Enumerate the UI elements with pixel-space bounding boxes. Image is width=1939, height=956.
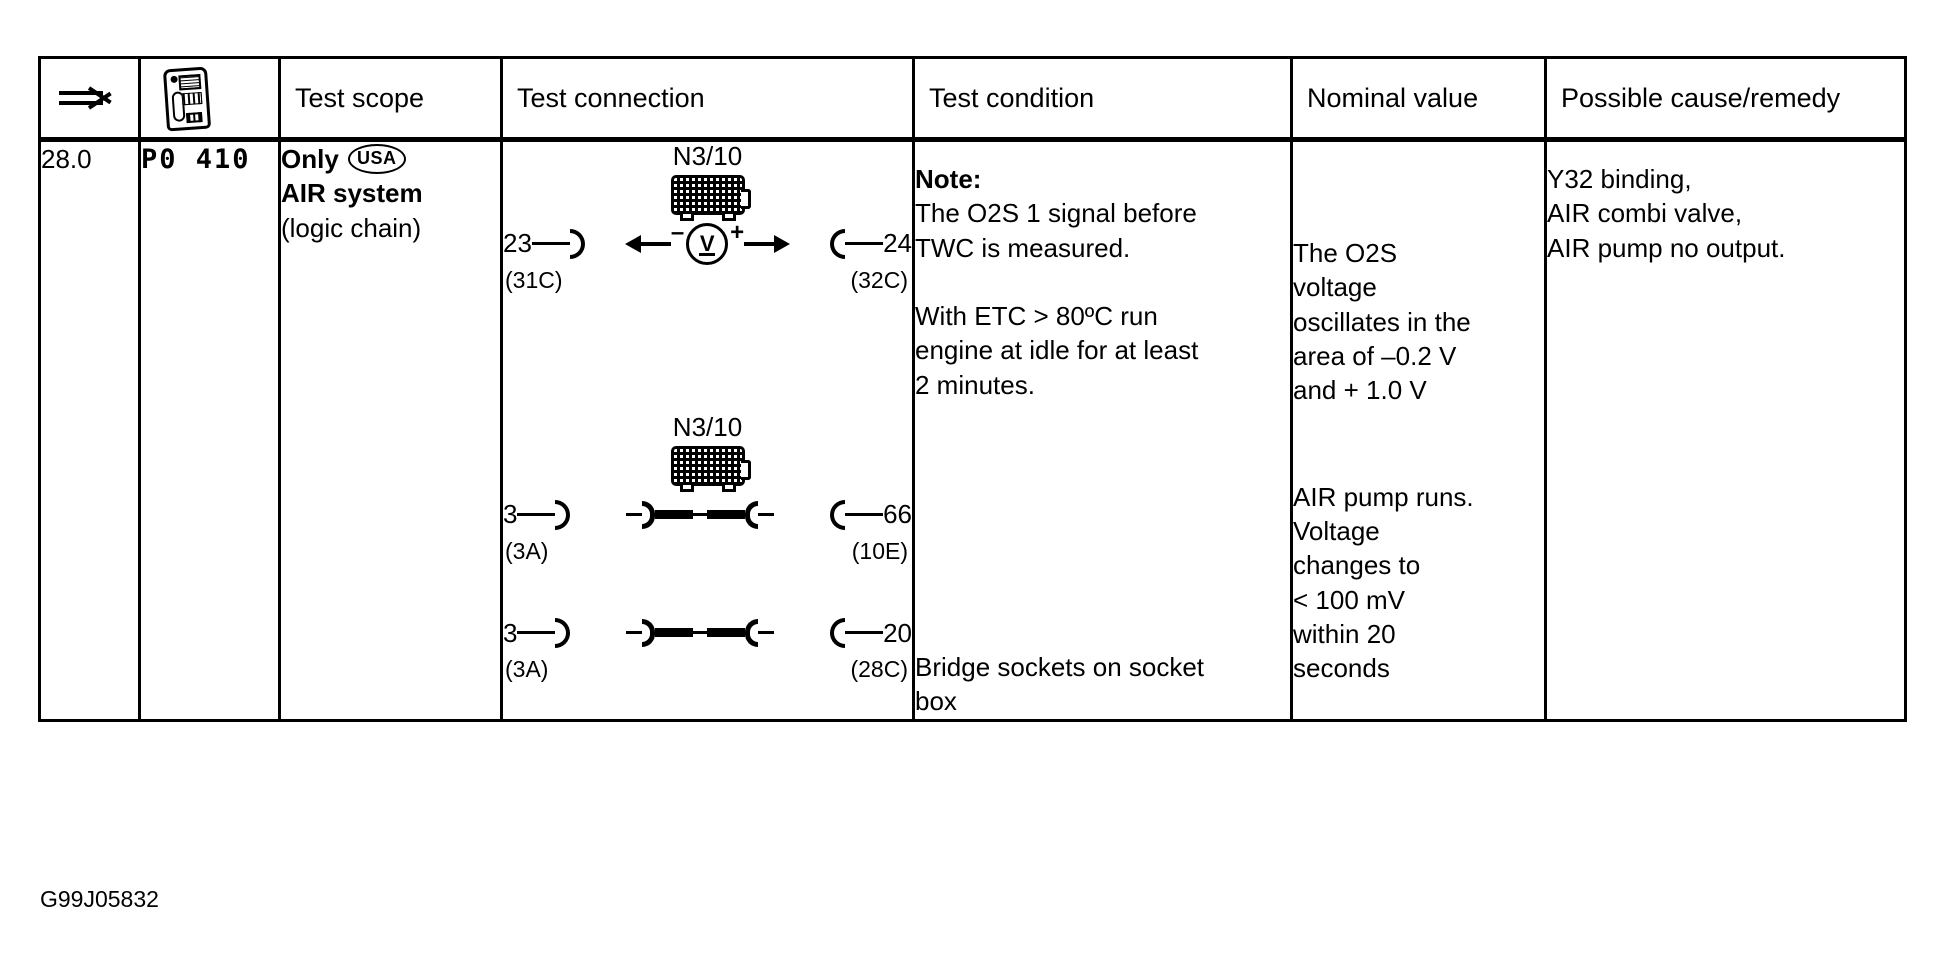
- voltmeter-gauge-icon: V: [686, 223, 728, 265]
- condition-line-1: The O2S 1 signal before: [915, 196, 1290, 230]
- test-scope-line-1: Only USA: [281, 142, 500, 176]
- right-terminal-1: 24: [830, 226, 912, 260]
- step-number: 28.0: [41, 142, 138, 176]
- arrow-left-icon: [625, 235, 671, 253]
- socket-label-row-1: (31C) (32C): [503, 265, 912, 295]
- bridge-jumper-icon-1: [570, 501, 830, 529]
- left-pin-number-1: 23: [503, 226, 532, 260]
- diagnostic-table-wrapper: Test scope Test connection Test conditio…: [38, 56, 1904, 722]
- test-scope-line-2: AIR system: [281, 176, 500, 210]
- nominal2-line-2: Voltage: [1293, 514, 1544, 548]
- header-cell-test-condition: Test condition: [914, 58, 1292, 140]
- connection-line-row-3: 3: [503, 610, 912, 656]
- connector-label-n3-10-b: N3/10: [503, 413, 912, 442]
- header-cell-test-scope: Test scope: [280, 58, 502, 140]
- right-terminal-3: 20: [830, 616, 912, 650]
- socket-bracket-right-1: [830, 229, 845, 259]
- left-terminal-1: 23: [503, 226, 585, 260]
- connector-plug-icon-b: [671, 446, 745, 486]
- cell-possible-cause: Y32 binding, AIR combi valve, AIR pump n…: [1546, 140, 1906, 721]
- nominal2-line-4: < 100 mV: [1293, 583, 1544, 617]
- socket-bracket-right-2: [830, 500, 845, 530]
- wire-right-3: [845, 631, 883, 634]
- header-label-test-scope: Test scope: [295, 83, 424, 113]
- document-page: Test scope Test connection Test conditio…: [0, 0, 1939, 956]
- polarity-minus: –: [671, 221, 684, 245]
- double-arrow-icon: [59, 78, 121, 118]
- right-socket-label-1: (32C): [850, 265, 912, 295]
- wire-left-1: [532, 242, 570, 245]
- header-label-test-condition: Test condition: [929, 83, 1094, 113]
- nominal2-line-3: changes to: [1293, 548, 1544, 582]
- condition-block-2: Bridge sockets on socket box: [915, 402, 1290, 719]
- wire-left-3: [517, 631, 555, 634]
- socket-label-row-3: (3A) (28C): [503, 654, 912, 684]
- header-cell-possible-cause: Possible cause/remedy: [1546, 58, 1906, 140]
- wire-right-2: [845, 513, 883, 516]
- left-terminal-3: 3: [503, 616, 570, 650]
- nominal1-line-3: oscillates in the: [1293, 305, 1544, 339]
- diagnostic-table: Test scope Test connection Test conditio…: [38, 56, 1907, 722]
- condition-note-heading: Note:: [915, 162, 1290, 196]
- wire-right-1: [845, 242, 883, 245]
- right-pin-number-2: 66: [883, 497, 912, 531]
- left-socket-label-3: (3A): [503, 654, 548, 684]
- condition2-line-1: Bridge sockets on socket: [915, 650, 1290, 684]
- fault-code-value: P0 410: [141, 142, 278, 178]
- cell-test-connection: N3/10 23: [502, 140, 914, 721]
- nominal1-line-2: voltage: [1293, 270, 1544, 304]
- socket-label-row-2: (3A) (10E): [503, 536, 912, 566]
- right-pin-number-1: 24: [883, 226, 912, 260]
- connection-line-row-2: 3: [503, 492, 912, 538]
- header-cell-nominal-value: Nominal value: [1292, 58, 1546, 140]
- header-cell-step: [40, 58, 140, 140]
- socket-bracket-left-3: [555, 618, 570, 648]
- cause-line-1: Y32 binding,: [1547, 162, 1904, 196]
- cause-line-3: AIR pump no output.: [1547, 231, 1904, 265]
- diagram-spacer-1: [503, 295, 912, 413]
- header-label-test-connection: Test connection: [517, 83, 705, 113]
- condition-blank-line: [915, 265, 1290, 299]
- cause-line-2: AIR combi valve,: [1547, 196, 1904, 230]
- diagram-spacer-2: [503, 566, 912, 610]
- socket-bracket-left-1: [570, 229, 585, 259]
- voltmeter-symbol: – V +: [585, 223, 830, 265]
- left-terminal-2: 3: [503, 497, 570, 531]
- test-scope-line-3: (logic chain): [281, 211, 500, 245]
- polarity-plus: +: [730, 221, 744, 245]
- cell-test-scope: Only USA AIR system (logic chain): [280, 140, 502, 721]
- connector-plug-icon-a: [671, 175, 745, 215]
- table-header-row: Test scope Test connection Test conditio…: [40, 58, 1906, 140]
- connection-diagram-bridge-1: N3/10 3: [503, 413, 912, 566]
- bridge-jumper-icon-2: [570, 619, 830, 647]
- connection-diagram-bridge-2: 3: [503, 610, 912, 684]
- condition-line-2: TWC is measured.: [915, 231, 1290, 265]
- connection-line-row-1: 23 – V: [503, 221, 912, 267]
- arrow-right-icon: [744, 235, 790, 253]
- right-pin-number-3: 20: [883, 616, 912, 650]
- left-pin-number-2: 3: [503, 497, 517, 531]
- socket-bracket-left-2: [555, 500, 570, 530]
- connector-label-n3-10-a: N3/10: [503, 142, 912, 171]
- figure-caption: G99J05832: [40, 886, 159, 913]
- condition-line-5: 2 minutes.: [915, 368, 1290, 402]
- header-cell-fault-code: [140, 58, 280, 140]
- socket-bracket-right-3: [830, 618, 845, 648]
- connection-diagram-voltmeter: N3/10 23: [503, 142, 912, 295]
- right-socket-label-2: (10E): [852, 536, 912, 566]
- nominal-block-2: AIR pump runs. Voltage changes to < 100 …: [1293, 408, 1544, 686]
- nominal2-line-5: within 20: [1293, 617, 1544, 651]
- right-socket-label-3: (28C): [850, 654, 912, 684]
- condition-line-3: With ETC > 80ºC run: [915, 299, 1290, 333]
- cell-test-condition: Note: The O2S 1 signal before TWC is mea…: [914, 140, 1292, 721]
- handheld-tester-icon: [163, 67, 211, 132]
- condition2-line-2: box: [915, 684, 1290, 718]
- nominal-block-1: The O2S voltage oscillates in the area o…: [1293, 142, 1544, 408]
- usa-badge: USA: [348, 144, 406, 174]
- left-pin-number-3: 3: [503, 616, 517, 650]
- cell-nominal-value: The O2S voltage oscillates in the area o…: [1292, 140, 1546, 721]
- header-cell-test-connection: Test connection: [502, 58, 914, 140]
- condition-line-4: engine at idle for at least: [915, 333, 1290, 367]
- left-socket-label-1: (31C): [503, 265, 563, 295]
- nominal2-line-6: seconds: [1293, 651, 1544, 685]
- test-scope-only-label: Only: [281, 142, 339, 176]
- nominal1-line-1: The O2S: [1293, 236, 1544, 270]
- cell-fault-code: P0 410: [140, 140, 280, 721]
- table-row: 28.0 P0 410 Only USA AIR system (logic c…: [40, 140, 1906, 721]
- header-label-possible-cause: Possible cause/remedy: [1561, 83, 1840, 113]
- right-terminal-2: 66: [830, 497, 912, 531]
- header-label-nominal-value: Nominal value: [1307, 83, 1478, 113]
- wire-left-2: [517, 513, 555, 516]
- left-socket-label-2: (3A): [503, 536, 548, 566]
- nominal1-line-5: and + 1.0 V: [1293, 373, 1544, 407]
- cell-step-number: 28.0: [40, 140, 140, 721]
- nominal2-line-1: AIR pump runs.: [1293, 480, 1544, 514]
- nominal1-line-4: area of –0.2 V: [1293, 339, 1544, 373]
